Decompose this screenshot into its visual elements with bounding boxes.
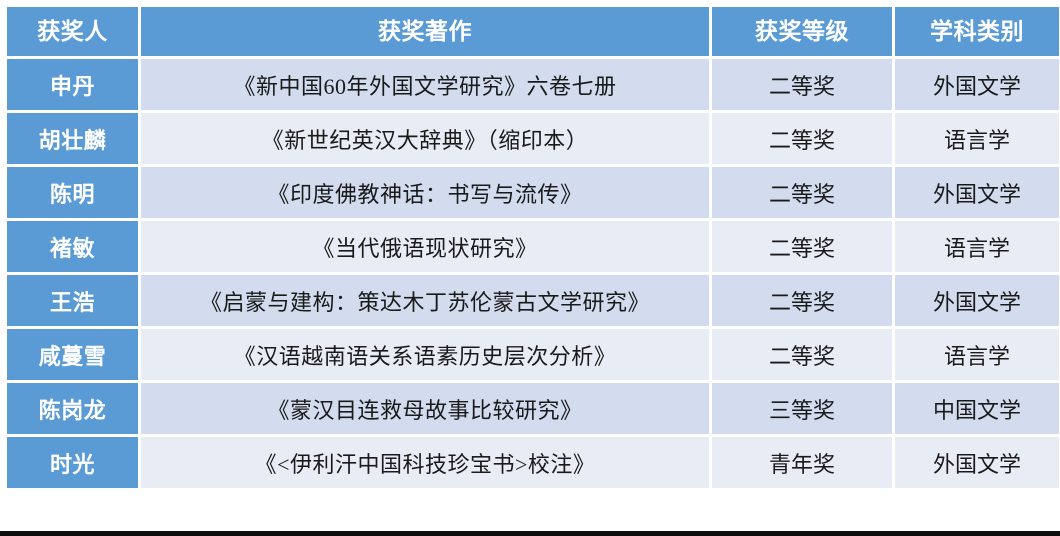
cell-person: 陈明 xyxy=(7,167,138,218)
cell-category: 外国文学 xyxy=(895,59,1059,110)
cell-work: 《汉语越南语关系语素历史层次分析》 xyxy=(141,329,709,380)
column-header-work: 获奖著作 xyxy=(141,7,709,56)
award-table: 获奖人 获奖著作 获奖等级 学科类别 申丹 《新中国60年外国文学研究》六卷七册… xyxy=(4,4,1060,491)
cell-work: 《新中国60年外国文学研究》六卷七册 xyxy=(141,59,709,110)
table-header: 获奖人 获奖著作 获奖等级 学科类别 xyxy=(7,7,1059,56)
column-header-category: 学科类别 xyxy=(895,7,1059,56)
table-row: 时光 《<伊利汗中国科技珍宝书>校注》 青年奖 外国文学 xyxy=(7,437,1059,488)
cell-person: 时光 xyxy=(7,437,138,488)
cell-person: 胡壮麟 xyxy=(7,113,138,164)
cell-work: 《新世纪英汉大辞典》（缩印本） xyxy=(141,113,709,164)
cell-person: 申丹 xyxy=(7,59,138,110)
cell-grade: 二等奖 xyxy=(712,167,892,218)
cell-category: 中国文学 xyxy=(895,383,1059,434)
cell-grade: 青年奖 xyxy=(712,437,892,488)
cell-category: 外国文学 xyxy=(895,167,1059,218)
column-header-grade: 获奖等级 xyxy=(712,7,892,56)
cell-grade: 二等奖 xyxy=(712,275,892,326)
table-row: 胡壮麟 《新世纪英汉大辞典》（缩印本） 二等奖 语言学 xyxy=(7,113,1059,164)
table-row: 申丹 《新中国60年外国文学研究》六卷七册 二等奖 外国文学 xyxy=(7,59,1059,110)
table-row: 王浩 《启蒙与建构：策达木丁苏伦蒙古文学研究》 二等奖 外国文学 xyxy=(7,275,1059,326)
header-row: 获奖人 获奖著作 获奖等级 学科类别 xyxy=(7,7,1059,56)
cell-work: 《印度佛教神话：书写与流传》 xyxy=(141,167,709,218)
cell-work: 《蒙汉目连救母故事比较研究》 xyxy=(141,383,709,434)
cell-category: 语言学 xyxy=(895,113,1059,164)
cell-work: 《启蒙与建构：策达木丁苏伦蒙古文学研究》 xyxy=(141,275,709,326)
cell-person: 褚敏 xyxy=(7,221,138,272)
table-row: 褚敏 《当代俄语现状研究》 二等奖 语言学 xyxy=(7,221,1059,272)
table-row: 咸蔓雪 《汉语越南语关系语素历史层次分析》 二等奖 语言学 xyxy=(7,329,1059,380)
cell-work: 《当代俄语现状研究》 xyxy=(141,221,709,272)
cell-grade: 二等奖 xyxy=(712,59,892,110)
table-body: 申丹 《新中国60年外国文学研究》六卷七册 二等奖 外国文学 胡壮麟 《新世纪英… xyxy=(7,59,1059,488)
column-header-person: 获奖人 xyxy=(7,7,138,56)
cell-grade: 二等奖 xyxy=(712,329,892,380)
award-table-container: 获奖人 获奖著作 获奖等级 学科类别 申丹 《新中国60年外国文学研究》六卷七册… xyxy=(0,0,1060,536)
cell-grade: 二等奖 xyxy=(712,113,892,164)
cell-category: 外国文学 xyxy=(895,437,1059,488)
cell-work: 《<伊利汗中国科技珍宝书>校注》 xyxy=(141,437,709,488)
cell-person: 陈岗龙 xyxy=(7,383,138,434)
table-row: 陈明 《印度佛教神话：书写与流传》 二等奖 外国文学 xyxy=(7,167,1059,218)
table-row: 陈岗龙 《蒙汉目连救母故事比较研究》 三等奖 中国文学 xyxy=(7,383,1059,434)
cell-category: 语言学 xyxy=(895,329,1059,380)
cell-category: 外国文学 xyxy=(895,275,1059,326)
cell-grade: 三等奖 xyxy=(712,383,892,434)
cell-person: 王浩 xyxy=(7,275,138,326)
cell-grade: 二等奖 xyxy=(712,221,892,272)
cell-category: 语言学 xyxy=(895,221,1059,272)
cell-person: 咸蔓雪 xyxy=(7,329,138,380)
